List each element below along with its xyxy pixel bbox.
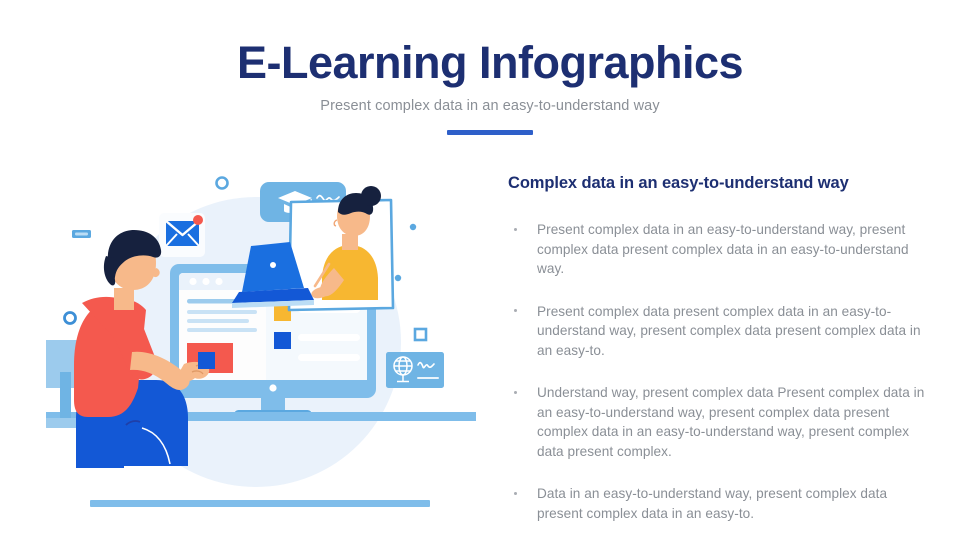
bullet-dot-icon [514,391,517,394]
bullet-dot-icon [514,228,517,231]
bullet-list: Present complex data in an easy-to-under… [508,220,928,523]
slide-canvas: E-Learning Infographics Present complex … [0,0,980,551]
list-item: Understand way, present complex data Pre… [508,383,928,461]
page-title: E-Learning Infographics [0,38,980,88]
list-item: Present complex data present complex dat… [508,302,928,361]
list-item-text: Data in an easy-to-understand way, prese… [537,486,887,521]
title-underline-rule [447,130,533,135]
list-item: Present complex data in an easy-to-under… [508,220,928,279]
content-panel: Complex data in an easy-to-understand wa… [508,172,928,523]
mail-envelope-icon [159,213,205,257]
list-item-text: Present complex data present complex dat… [537,304,921,358]
globe-certificate-card [386,352,444,388]
list-item-text: Present complex data in an easy-to-under… [537,222,909,276]
list-item: Data in an easy-to-understand way, prese… [508,484,928,523]
content-heading: Complex data in an easy-to-understand wa… [508,172,928,194]
bullet-dot-icon [514,492,517,495]
bullet-dot-icon [514,309,517,312]
floor-line [90,500,430,507]
page-subtitle: Present complex data in an easy-to-under… [0,96,980,116]
e-learning-illustration [46,160,476,520]
list-item-text: Understand way, present complex data Pre… [537,385,924,459]
